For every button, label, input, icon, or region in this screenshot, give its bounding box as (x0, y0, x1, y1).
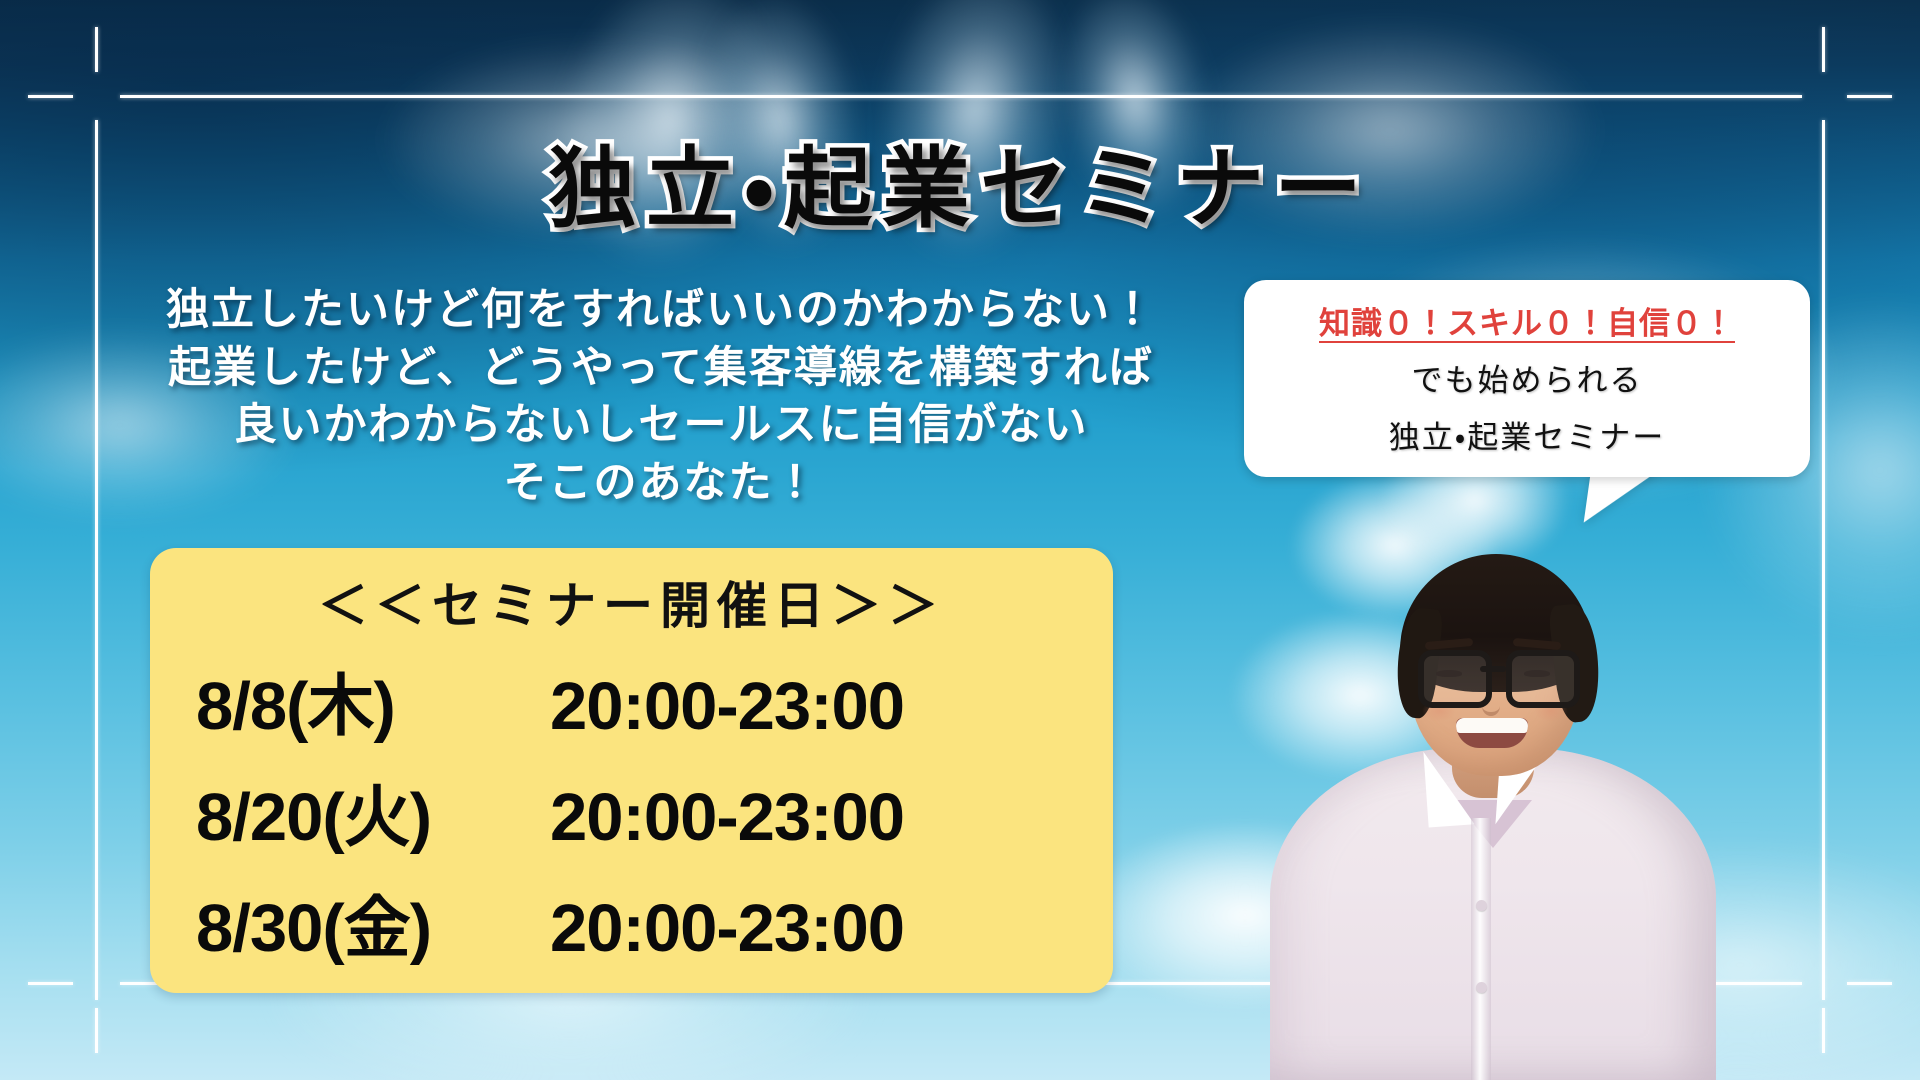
frame-mark-top-left-vertical-lower (95, 120, 98, 1000)
lead-line-1: 独立したいけど何をすればいいのかわからない！ (96, 282, 1226, 340)
lead-line-2: 起業したけど、どうやって集客導線を構築すれば (96, 340, 1226, 398)
glasses-lens-left-icon (1418, 650, 1492, 708)
schedule-time: 20:00-23:00 (550, 890, 904, 967)
schedule-heading: ＜＜セミナー開催日＞＞ (150, 566, 1113, 638)
frame-mark-top-right-vertical-lower (1822, 120, 1825, 1000)
frame-mark-top-left-horizontal-left (28, 95, 73, 98)
frame-mark-top-left-vertical-upper (95, 27, 98, 72)
glasses-lens-right-icon (1506, 650, 1580, 708)
frame-mark-bottom-left-vertical-lower (95, 1008, 98, 1053)
schedule-date: 8/8(木) (150, 652, 550, 749)
frame-mark-top-left-horizontal-right (120, 95, 1802, 98)
presenter-photo (1258, 500, 1728, 1080)
bubble-line-3: 独立・起業セミナー (1260, 412, 1794, 457)
frame-mark-top-right-horizontal-right (1847, 95, 1892, 98)
speech-bubble: 知識０！スキル０！自信０！ でも始められる 独立・起業セミナー (1244, 280, 1810, 477)
presenter-nose (1482, 696, 1500, 716)
lead-line-3: 良いかわからないしセールスに自信がない (96, 397, 1226, 455)
page-title: 独立・起業セミナー (0, 118, 1920, 245)
schedule-date: 8/20(火) (150, 763, 550, 860)
presenter-mouth (1456, 718, 1528, 748)
presenter-shirt-button-1 (1476, 900, 1487, 911)
glasses-bridge-icon (1480, 666, 1506, 672)
bubble-highlight-text: 知識０！スキル０！自信０！ (1260, 298, 1794, 343)
lead-copy: 独立したいけど何をすればいいのかわからない！ 起業したけど、どうやって集客導線を… (96, 282, 1226, 512)
schedule-row: 8/8(木) 20:00-23:00 (150, 652, 1113, 749)
schedule-time: 20:00-23:00 (550, 779, 904, 856)
bubble-line-2: でも始められる (1260, 355, 1794, 400)
schedule-panel: ＜＜セミナー開催日＞＞ 8/8(木) 20:00-23:00 8/20(火) 2… (150, 548, 1113, 993)
schedule-date: 8/30(金) (150, 874, 550, 971)
frame-mark-top-right-vertical-upper (1822, 27, 1825, 72)
frame-mark-bottom-right-vertical-lower (1822, 1008, 1825, 1053)
presenter-shirt-button-2 (1476, 982, 1487, 993)
lead-line-4: そこのあなた！ (96, 455, 1226, 513)
schedule-row: 8/20(火) 20:00-23:00 (150, 763, 1113, 860)
frame-mark-bottom-left-horizontal-left (28, 982, 73, 985)
frame-mark-bottom-right-horizontal-right (1847, 982, 1892, 985)
schedule-row: 8/30(金) 20:00-23:00 (150, 874, 1113, 971)
presenter-shirt-placket (1471, 818, 1491, 1080)
schedule-time: 20:00-23:00 (550, 668, 904, 745)
presenter-teeth (1456, 718, 1528, 733)
seminar-banner: 独立・起業セミナー 独立したいけど何をすればいいのかわからない！ 起業したけど、… (0, 0, 1920, 1080)
